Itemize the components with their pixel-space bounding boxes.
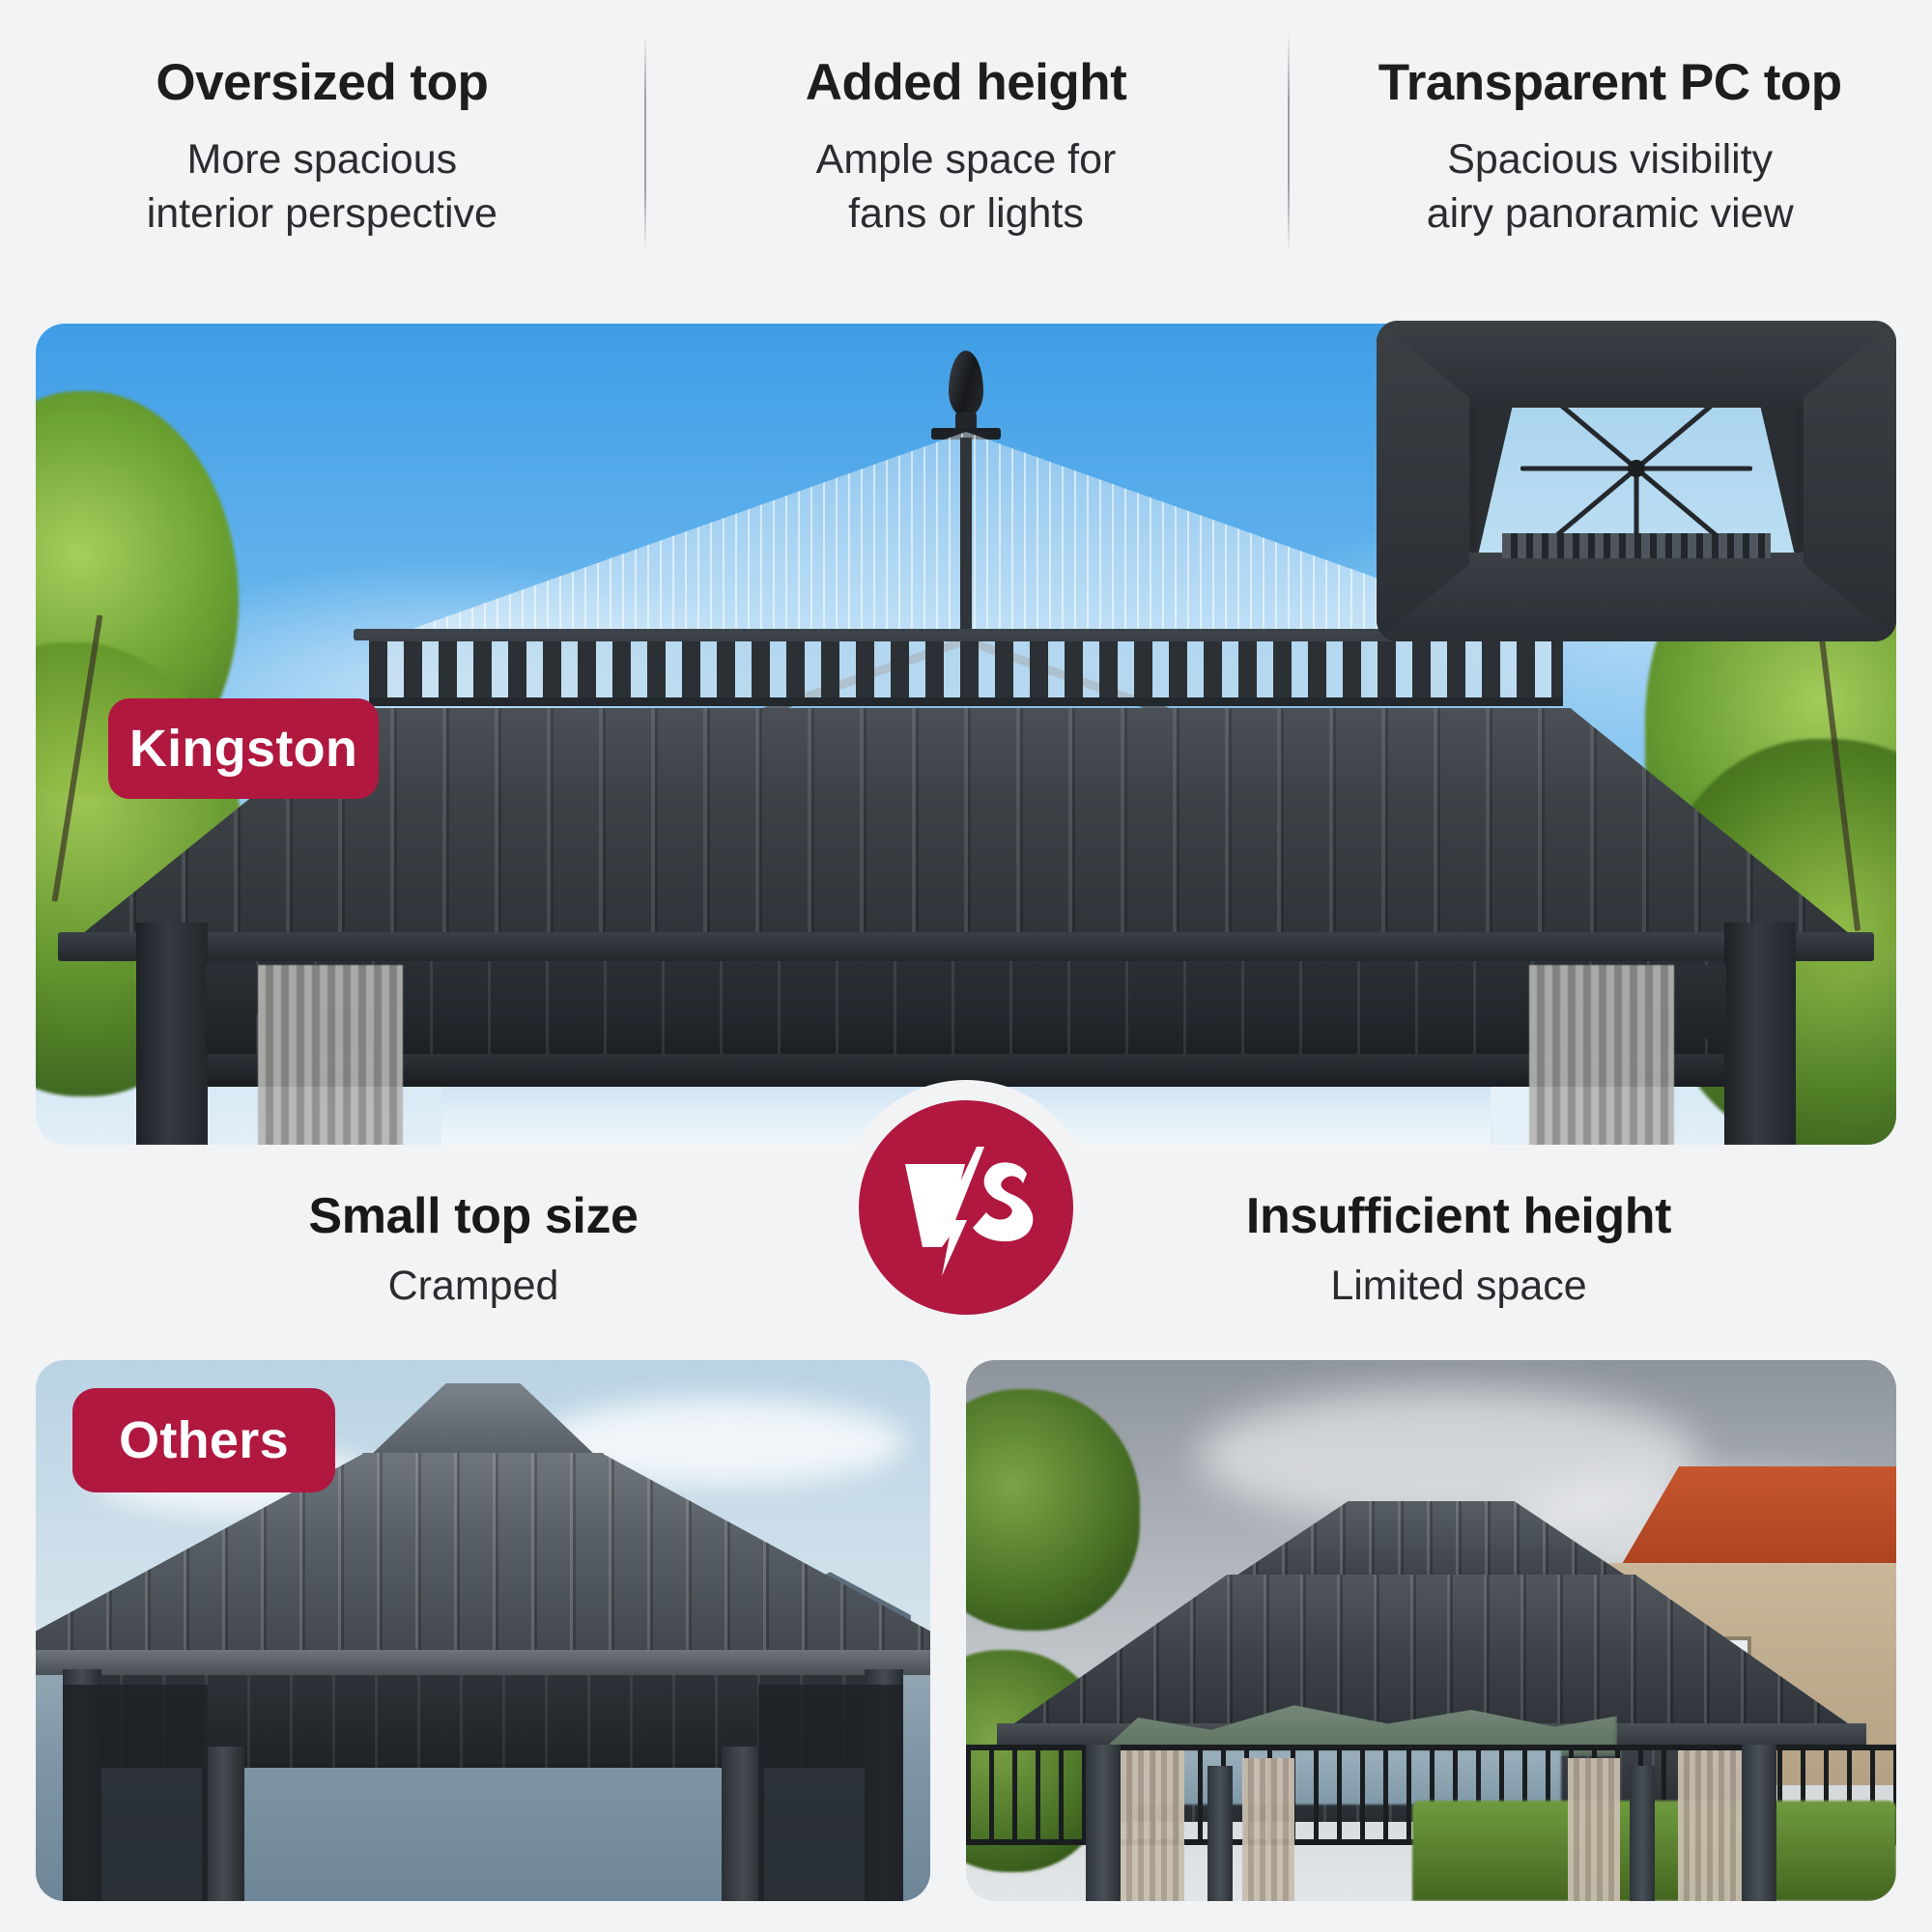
- others-screen-left: [63, 1685, 208, 1901]
- curtain-left: [258, 965, 403, 1145]
- feature-column-oversized-top: Oversized top More spacious interior per…: [0, 0, 644, 290]
- pc-top-interior-inset-photo: [1377, 321, 1896, 641]
- gable-center-post: [960, 438, 972, 637]
- others-badge: Others: [72, 1388, 335, 1492]
- vs-lightning-icon: [884, 1125, 1048, 1290]
- feature-subtitle-line2: interior perspective: [147, 187, 497, 241]
- others-gazebo-photo: Others: [36, 1360, 930, 1901]
- cupola-slatted-railing: [369, 635, 1563, 706]
- insufficient-height-gazebo-photo: [966, 1360, 1896, 1901]
- comparison-right-subtitle: Limited space: [1101, 1263, 1816, 1310]
- comparison-left-text: Small top size Cramped: [116, 1187, 831, 1310]
- feature-header: Oversized top More spacious interior per…: [0, 0, 1932, 290]
- feature-subtitle-line1: Spacious visibility: [1427, 133, 1794, 187]
- kingston-badge: Kingston: [108, 698, 379, 799]
- insufficient-curtain-left-inner: [1242, 1758, 1294, 1901]
- insufficient-post-left: [1086, 1745, 1121, 1901]
- roof-eave: [58, 932, 1874, 961]
- feature-subtitle-line2: fans or lights: [816, 187, 1117, 241]
- others-roof-eave: [36, 1650, 930, 1675]
- insufficient-curtain-left: [1121, 1750, 1184, 1901]
- feature-title: Transparent PC top: [1378, 56, 1842, 110]
- feature-title: Added height: [806, 56, 1127, 110]
- insufficient-post-right-inner: [1630, 1766, 1655, 1901]
- feature-subtitle-line1: Ample space for: [816, 133, 1117, 187]
- comparison-right-title: Insufficient height: [1101, 1187, 1816, 1245]
- feature-subtitle: More spacious interior perspective: [147, 133, 497, 241]
- under-roof-ceiling-ribs: [198, 961, 1734, 1054]
- inset-railing-slats: [1502, 533, 1771, 558]
- curtain-right: [1529, 965, 1674, 1145]
- feature-subtitle-line1: More spacious: [147, 133, 497, 187]
- feature-subtitle: Ample space for fans or lights: [816, 133, 1117, 241]
- comparison-left-title: Small top size: [116, 1187, 831, 1245]
- others-badge-label: Others: [119, 1410, 289, 1470]
- feature-column-added-height: Added height Ample space for fans or lig…: [644, 0, 1289, 290]
- insufficient-curtain-right: [1678, 1750, 1742, 1901]
- gazebo-post-left: [136, 923, 208, 1145]
- feature-subtitle-line2: airy panoramic view: [1427, 187, 1794, 241]
- comparison-right-text: Insufficient height Limited space: [1101, 1187, 1816, 1310]
- insufficient-curtain-right-inner: [1568, 1758, 1620, 1901]
- insufficient-post-left-inner: [1207, 1766, 1233, 1901]
- kingston-badge-label: Kingston: [129, 719, 357, 779]
- feature-column-transparent-pc-top: Transparent PC top Spacious visibility a…: [1288, 0, 1932, 290]
- others-screen-right: [758, 1685, 903, 1901]
- feature-title: Oversized top: [156, 56, 488, 110]
- vs-badge-circle: [859, 1100, 1073, 1315]
- insufficient-post-right: [1742, 1745, 1776, 1901]
- others-post-left-inner: [202, 1747, 244, 1901]
- vs-badge: [838, 1080, 1094, 1335]
- feature-subtitle: Spacious visibility airy panoramic view: [1427, 133, 1794, 241]
- gazebo-post-right: [1724, 923, 1796, 1145]
- comparison-left-subtitle: Cramped: [116, 1263, 831, 1310]
